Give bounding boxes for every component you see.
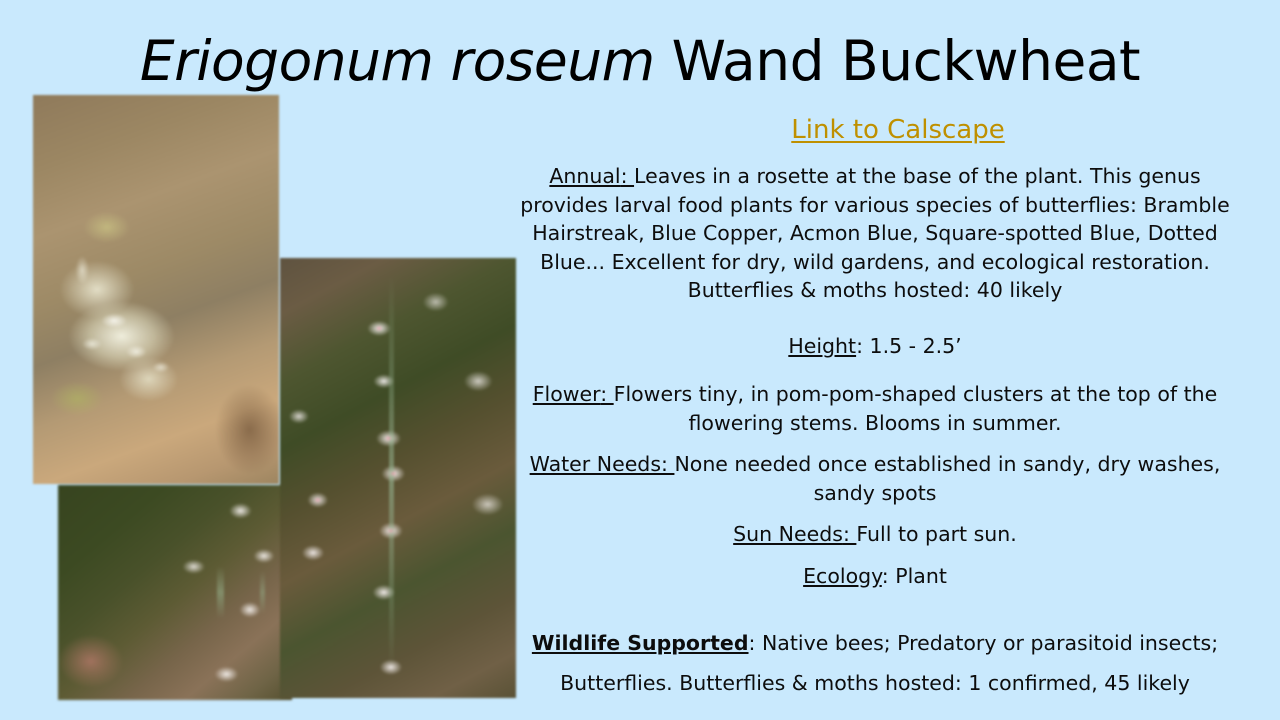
- section-ecology-colon: :: [882, 564, 895, 588]
- spacer: [505, 590, 1245, 623]
- section-height-text: 1.5 - 2.5’: [870, 334, 962, 358]
- wand-closeup-photo: [280, 258, 516, 698]
- section-annual-colon: :: [621, 164, 634, 188]
- spacer: [505, 437, 1245, 450]
- plant-details-body: Annual: Leaves in a rosette at the base …: [505, 162, 1245, 703]
- title-scientific-name: Eriogonum roseum: [140, 29, 672, 93]
- spacer: [505, 507, 1245, 520]
- section-water-needs-text: None needed once established in sandy, d…: [674, 452, 1220, 505]
- section-annual-label: Annual: [549, 164, 620, 188]
- calscape-link-container: Link to Calscape: [516, 115, 1280, 145]
- buds-macro-photo: [33, 95, 279, 484]
- section-water-needs: Water Needs: None needed once establishe…: [505, 450, 1245, 507]
- section-flower-label: Flower: [533, 382, 600, 406]
- slide-canvas: Eriogonum roseum Wand Buckwheat Link to …: [0, 0, 1280, 720]
- section-wildlife-supported: Wildlife Supported: Native bees; Predato…: [505, 623, 1245, 703]
- page-title: Eriogonum roseum Wand Buckwheat: [0, 34, 1280, 89]
- section-flower-colon: :: [600, 382, 613, 406]
- wand-field-photo: [58, 485, 292, 700]
- section-wildlife-supported-label: Wildlife Supported: [532, 631, 749, 655]
- title-common-name: Wand Buckwheat: [672, 29, 1140, 93]
- section-annual: Annual: Leaves in a rosette at the base …: [505, 162, 1245, 305]
- spacer: [505, 305, 1245, 332]
- section-sun-needs: Sun Needs: Full to part sun.: [505, 520, 1245, 549]
- spacer: [505, 360, 1245, 380]
- calscape-link[interactable]: Link to Calscape: [791, 115, 1004, 145]
- section-ecology-label: Ecology: [803, 564, 882, 588]
- section-height: Height: 1.5 - 2.5’: [505, 332, 1245, 361]
- section-sun-needs-text: Full to part sun.: [856, 522, 1016, 546]
- section-height-colon: :: [856, 334, 869, 358]
- section-sun-needs-label: Sun Needs: [733, 522, 843, 546]
- section-sun-needs-colon: :: [843, 522, 856, 546]
- section-water-needs-colon: :: [661, 452, 674, 476]
- section-ecology: Ecology: Plant: [505, 562, 1245, 591]
- section-wildlife-supported-colon: :: [749, 631, 762, 655]
- section-ecology-text: Plant: [895, 564, 947, 588]
- spacer: [505, 549, 1245, 562]
- section-flower-text: Flowers tiny, in pom-pom-shaped clusters…: [614, 382, 1218, 435]
- section-water-needs-label: Water Needs: [530, 452, 661, 476]
- section-flower: Flower: Flowers tiny, in pom-pom-shaped …: [505, 380, 1245, 437]
- section-height-label: Height: [788, 334, 856, 358]
